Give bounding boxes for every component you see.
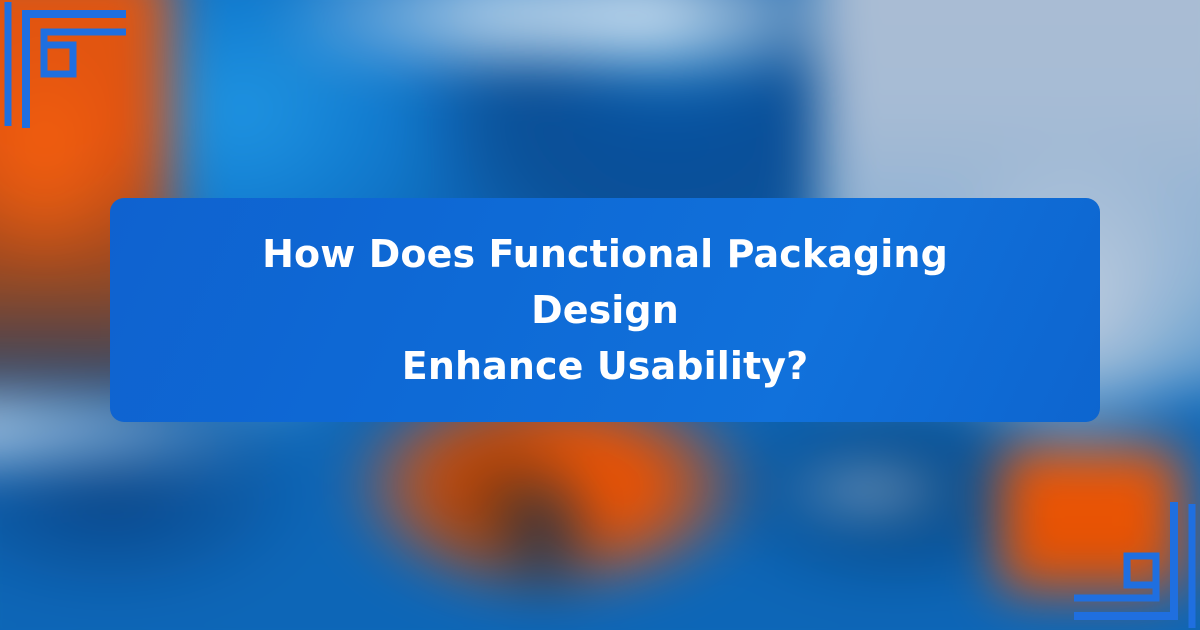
social-share-card: How Does Functional Packaging Design Enh… xyxy=(0,0,1200,630)
background-blob-pale-streak-right xyxy=(770,460,970,520)
background-blob-light-band xyxy=(270,0,890,60)
title-banner: How Does Functional Packaging Design Enh… xyxy=(110,198,1100,422)
background-blob-dark-center xyxy=(485,460,605,610)
page-title: How Does Functional Packaging Design Enh… xyxy=(195,226,1015,395)
background-blob-orange-right xyxy=(1000,450,1180,590)
page-title-line-1: How Does Functional Packaging Design xyxy=(262,232,948,332)
page-title-line-2: Enhance Usability? xyxy=(402,344,808,388)
